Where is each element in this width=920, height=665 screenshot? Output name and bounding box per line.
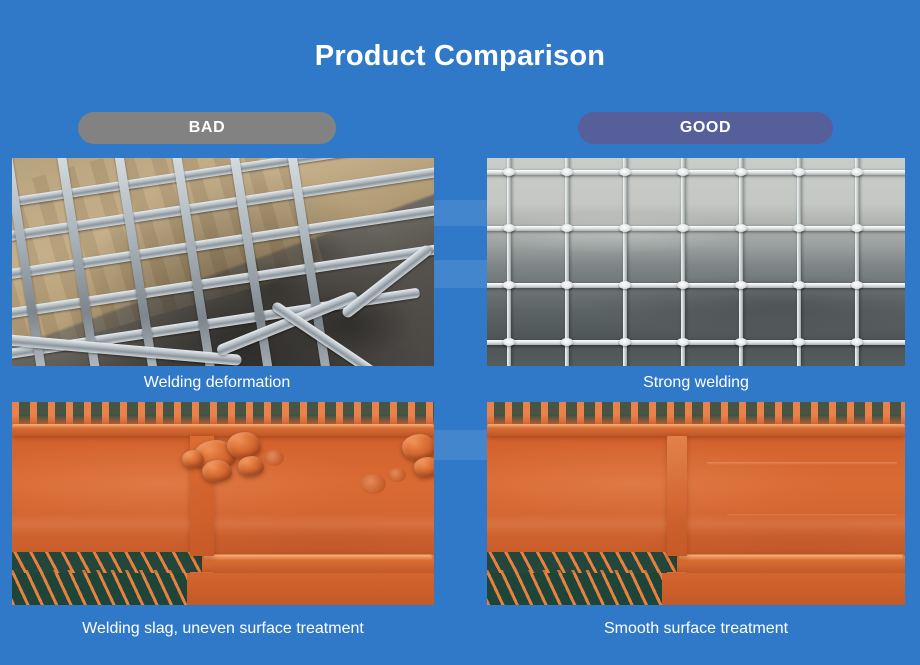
photo-welding-slag	[12, 402, 434, 605]
label-pill-good: GOOD	[578, 112, 833, 144]
page-title: Product Comparison	[0, 40, 920, 73]
label-pill-good-text: GOOD	[680, 119, 731, 137]
caption-welding-deformation: Welding deformation	[0, 374, 434, 392]
photo-strong-welding	[487, 158, 905, 366]
caption-smooth-surface: Smooth surface treatment	[487, 620, 905, 638]
photo-welding-deformation	[12, 158, 434, 366]
caption-welding-slag: Welding slag, uneven surface treatment	[0, 620, 446, 638]
caption-strong-welding: Strong welding	[487, 374, 905, 392]
label-pill-bad-text: BAD	[189, 119, 225, 137]
photo-smooth-surface	[487, 402, 905, 605]
label-pill-bad: BAD	[78, 112, 336, 144]
